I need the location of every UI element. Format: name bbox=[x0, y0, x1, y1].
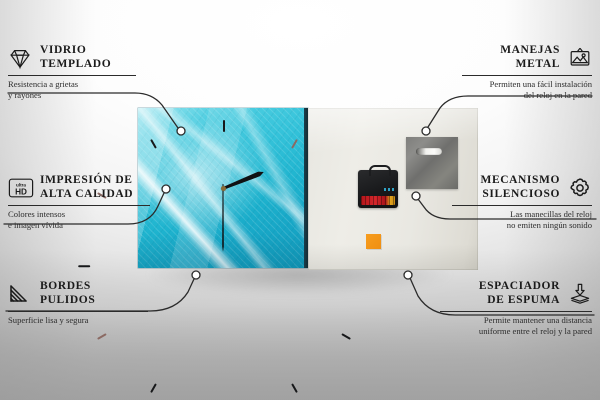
callout-rule bbox=[452, 205, 592, 206]
polished-edge-lines-icon bbox=[8, 282, 32, 306]
arrow-into-layers-icon bbox=[568, 282, 592, 306]
clock-front-panel bbox=[138, 108, 308, 268]
callout-title-line2: TEMPLADO bbox=[40, 58, 111, 72]
callout-espaciador-de-espuma: ESPACIADOR DE ESPUMA Permite mantener un… bbox=[440, 280, 592, 336]
callout-title-line1: IMPRESIÓN DE bbox=[40, 174, 133, 188]
callout-title-line2: METAL bbox=[500, 58, 560, 72]
product-image bbox=[138, 108, 478, 270]
foam-spacer bbox=[366, 234, 381, 249]
mechanism-hook bbox=[369, 165, 391, 176]
callout-rule bbox=[462, 75, 592, 76]
callout-title-line2: DE ESPUMA bbox=[479, 294, 560, 308]
callout-bordes-pulidos: BORDES PULIDOS Superficie lisa y segura bbox=[8, 280, 148, 326]
callout-title-line2: PULIDOS bbox=[40, 294, 95, 308]
callout-desc-line1: Superficie lisa y segura bbox=[8, 315, 148, 326]
callout-title-line1: BORDES bbox=[40, 280, 95, 294]
callout-desc-line2: del reloj en la pared bbox=[462, 90, 592, 101]
callout-title-line1: ESPACIADOR bbox=[479, 280, 560, 294]
callout-title-line1: MECANISMO bbox=[480, 174, 560, 188]
hanger-slot bbox=[416, 148, 442, 155]
callout-desc-line1: Permite mantener una distancia bbox=[440, 315, 592, 326]
callout-title-line2: SILENCIOSO bbox=[480, 188, 560, 202]
callout-title-line2: ALTA CALIDAD bbox=[40, 188, 133, 202]
battery-texture bbox=[361, 196, 395, 205]
product-infographic: VIDRIO TEMPLADO Resistencia a grietas y … bbox=[0, 0, 600, 400]
clock-center-pin bbox=[221, 186, 226, 191]
callout-mecanismo-silencioso: MECANISMO SILENCIOSO Las manecillas del … bbox=[452, 174, 592, 230]
gear-icon bbox=[568, 176, 592, 200]
callout-vidrio-templado: VIDRIO TEMPLADO Resistencia a grietas y … bbox=[8, 44, 136, 100]
clock-mechanism-box bbox=[358, 170, 398, 208]
callout-desc-line2: uniforme entre el reloj y la pared bbox=[440, 326, 592, 337]
callout-desc-line2: e imagen vívida bbox=[8, 220, 150, 231]
callout-desc-line2: no emiten ningún sonido bbox=[452, 220, 592, 231]
callout-impresion-alta-calidad: ultra HD IMPRESIÓN DE ALTA CALIDAD Color… bbox=[8, 174, 150, 230]
callout-title-line1: VIDRIO bbox=[40, 44, 111, 58]
ultra-hd-icon: ultra HD bbox=[8, 176, 32, 200]
callout-rule bbox=[440, 311, 592, 312]
clock-tick bbox=[78, 265, 90, 267]
diamond-icon bbox=[8, 46, 32, 70]
callout-desc-line2: y rayones bbox=[8, 90, 136, 101]
callout-rule bbox=[8, 205, 150, 206]
svg-text:HD: HD bbox=[15, 187, 27, 196]
callout-manejas-metal: MANEJAS METAL Permiten una fácil instala… bbox=[462, 44, 592, 100]
hanging-picture-frame-icon bbox=[568, 46, 592, 70]
callout-desc-line1: Colores intensos bbox=[8, 209, 150, 220]
mechanism-label bbox=[384, 188, 394, 191]
callout-desc-line1: Resistencia a grietas bbox=[8, 79, 136, 90]
metal-hanger-plate bbox=[406, 137, 458, 189]
callout-rule bbox=[8, 311, 148, 312]
callout-rule bbox=[8, 75, 136, 76]
callout-desc-line1: Las manecillas del reloj bbox=[452, 209, 592, 220]
callout-desc-line1: Permiten una fácil instalación bbox=[462, 79, 592, 90]
callout-title-line1: MANEJAS bbox=[500, 44, 560, 58]
